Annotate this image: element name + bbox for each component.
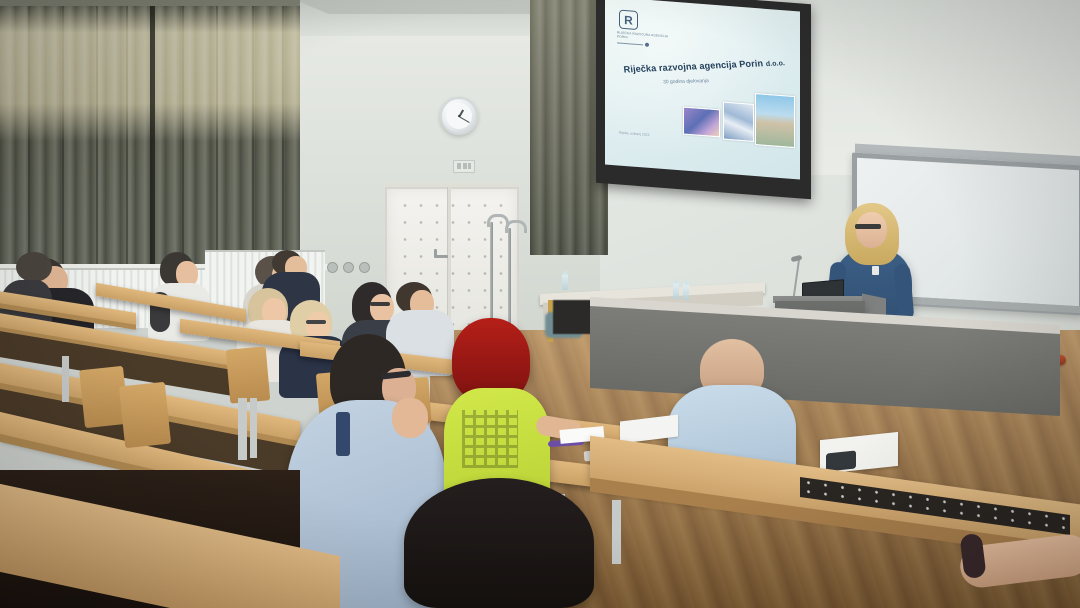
- desk-leg-1: [62, 356, 69, 402]
- projection-screen: R RIJEČKA RAZVOJNA AGENCIJA PORIN Riječk…: [605, 0, 800, 180]
- person-lanyard-10: [336, 412, 350, 456]
- logo-dot-icon: [645, 43, 649, 47]
- person-hair-12: [404, 478, 594, 608]
- lecture-hall-photo: R RIJEČKA RAZVOJNA AGENCIJA PORIN Riječk…: [0, 0, 1080, 608]
- presenter-face: [856, 212, 887, 248]
- slide-title: Riječka razvojna agencija Porin d.o.o.: [623, 57, 798, 75]
- shirt-graphic-11: [462, 410, 518, 468]
- slide-image-middle: [723, 102, 754, 142]
- slide-footer: Rijeka, svibanj 2023.: [619, 131, 650, 137]
- slide-title-main: Riječka razvojna agencija Porin: [623, 58, 764, 74]
- water-bottle-1[interactable]: [562, 274, 568, 290]
- chair-back-2[interactable]: [119, 382, 171, 448]
- coat-stand-hook-2: [505, 220, 527, 233]
- desk-leg-6: [612, 500, 621, 564]
- water-bottle-2[interactable]: [673, 283, 679, 299]
- presentation-slide: R RIJEČKA RAZVOJNA AGENCIJA PORIN Riječk…: [605, 0, 800, 180]
- person-face-8: [370, 294, 394, 322]
- desk-leg-3: [250, 398, 257, 458]
- desk-leg-2: [238, 398, 247, 460]
- porin-logo-icon: R: [619, 10, 638, 30]
- person-hand-10: [392, 398, 428, 438]
- wall-clock-icon: [440, 97, 478, 135]
- logo-rule: [617, 42, 643, 45]
- door-latch-icon[interactable]: [434, 249, 437, 258]
- chair-back-3[interactable]: [226, 346, 271, 403]
- curtain-rod: [0, 0, 300, 6]
- slide-image-right: [755, 93, 795, 148]
- person-glasses-icon-7: [306, 320, 326, 324]
- wall-sockets: [327, 262, 377, 271]
- slide-title-suffix: d.o.o.: [765, 60, 785, 68]
- slide-subtitle: 30 godina djelovanja: [663, 78, 709, 85]
- wall-switch-panel[interactable]: [453, 160, 475, 173]
- presenter-name-badge: [872, 266, 879, 275]
- slide-image-left: [683, 106, 720, 137]
- person-glasses-icon-8: [370, 302, 390, 306]
- coat-stand-2: [508, 228, 511, 332]
- presenter-glasses-icon: [855, 224, 881, 229]
- curtain-gap: [150, 0, 155, 272]
- person-hair-2: [16, 252, 52, 282]
- water-bottle-3[interactable]: [683, 284, 689, 300]
